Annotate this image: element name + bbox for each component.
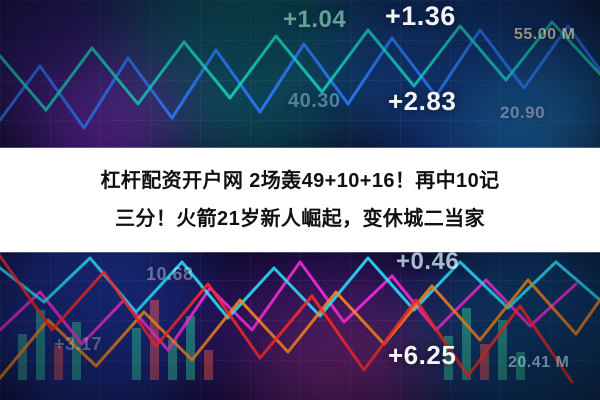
image-canvas: +1.36+1.0455.00 M+2.8340.3020.90+0.4610.… [0, 0, 600, 400]
chart-bar [132, 328, 141, 380]
chart-bar [186, 316, 195, 380]
chart-line [0, 262, 576, 350]
headline-line-1: 杠杆配资开户网 2场轰49+10+16！再中10记 [100, 166, 499, 196]
chart-bar [204, 350, 213, 380]
chart-bar [516, 352, 525, 380]
headline-band: 杠杆配资开户网 2场轰49+10+16！再中10记 三分！火箭21岁新人崛起，变… [0, 148, 600, 252]
chart-line [0, 22, 600, 110]
headline-line-2: 三分！火箭21岁新人崛起，变休城二当家 [115, 204, 485, 234]
chart-bar [54, 346, 63, 380]
chart-bar [18, 334, 27, 380]
